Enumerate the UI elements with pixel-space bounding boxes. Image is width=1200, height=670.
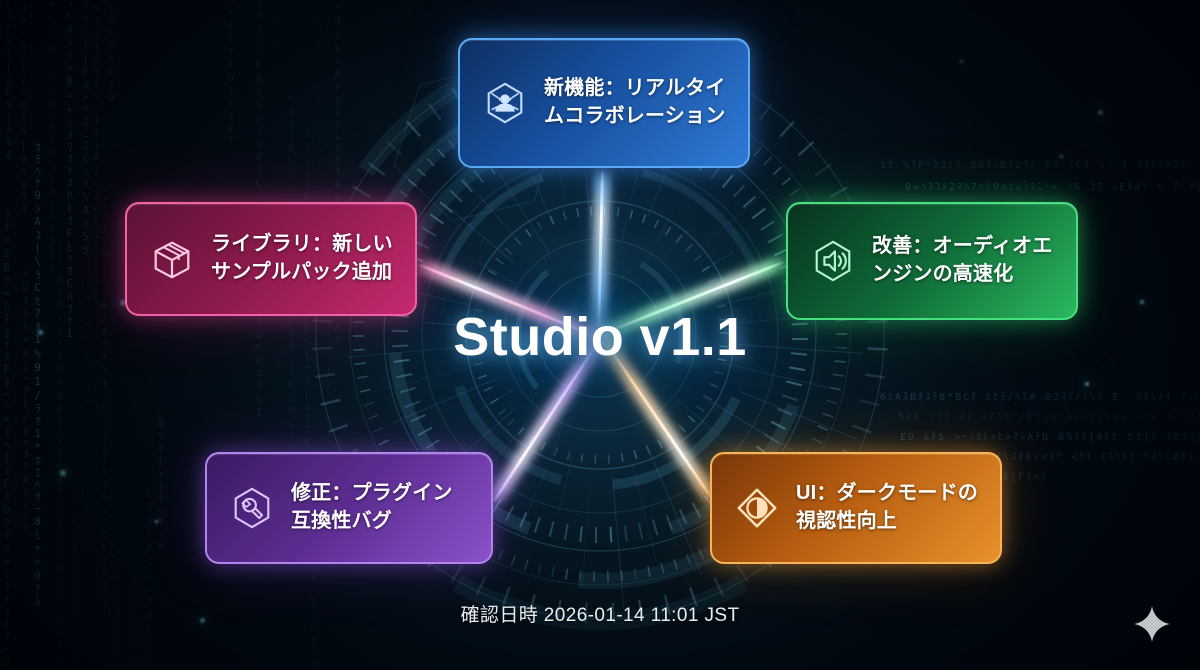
card-label: 改善：オーディオエンジンの高速化 <box>872 233 1054 288</box>
card-ui[interactable]: UI：ダークモードの視認性向上 <box>710 452 1002 564</box>
card-label: ライブラリ：新しいサンプルパック追加 <box>211 231 393 286</box>
card-label: 新機能：リアルタイムコラボレーション <box>544 75 726 130</box>
contrast-diamond-icon <box>734 485 780 531</box>
wrench-hexagon-icon <box>229 485 275 531</box>
card-label: 修正：プラグイン互換性バグ <box>291 480 469 535</box>
sparkle-icon <box>1132 604 1172 644</box>
card-label: UI：ダークモードの視認性向上 <box>796 480 978 535</box>
speaker-volume-hexagon-icon <box>810 238 856 284</box>
hero-infographic: ﾗﾅ<2Bﾘ=ﾊ7ｾｹﾇFﾈｰｰ=ｴﾍ{ｴFｽDﾜｷ>=ﾇﾏｷﾒ}ｱｰ5Aｾ/ﾍ… <box>0 0 1200 670</box>
card-new-feature[interactable]: 新機能：リアルタイムコラボレーション <box>458 38 750 168</box>
timestamp-caption: 確認日時 2026-01-14 11:01 JST <box>0 600 1200 627</box>
package-box-icon <box>149 236 195 282</box>
card-fix[interactable]: 修正：プラグイン互換性バグ <box>205 452 493 564</box>
card-library[interactable]: ライブラリ：新しいサンプルパック追加 <box>125 202 417 316</box>
collaboration-hexagon-icon <box>482 80 528 126</box>
card-improvement[interactable]: 改善：オーディオエンジンの高速化 <box>786 202 1078 320</box>
